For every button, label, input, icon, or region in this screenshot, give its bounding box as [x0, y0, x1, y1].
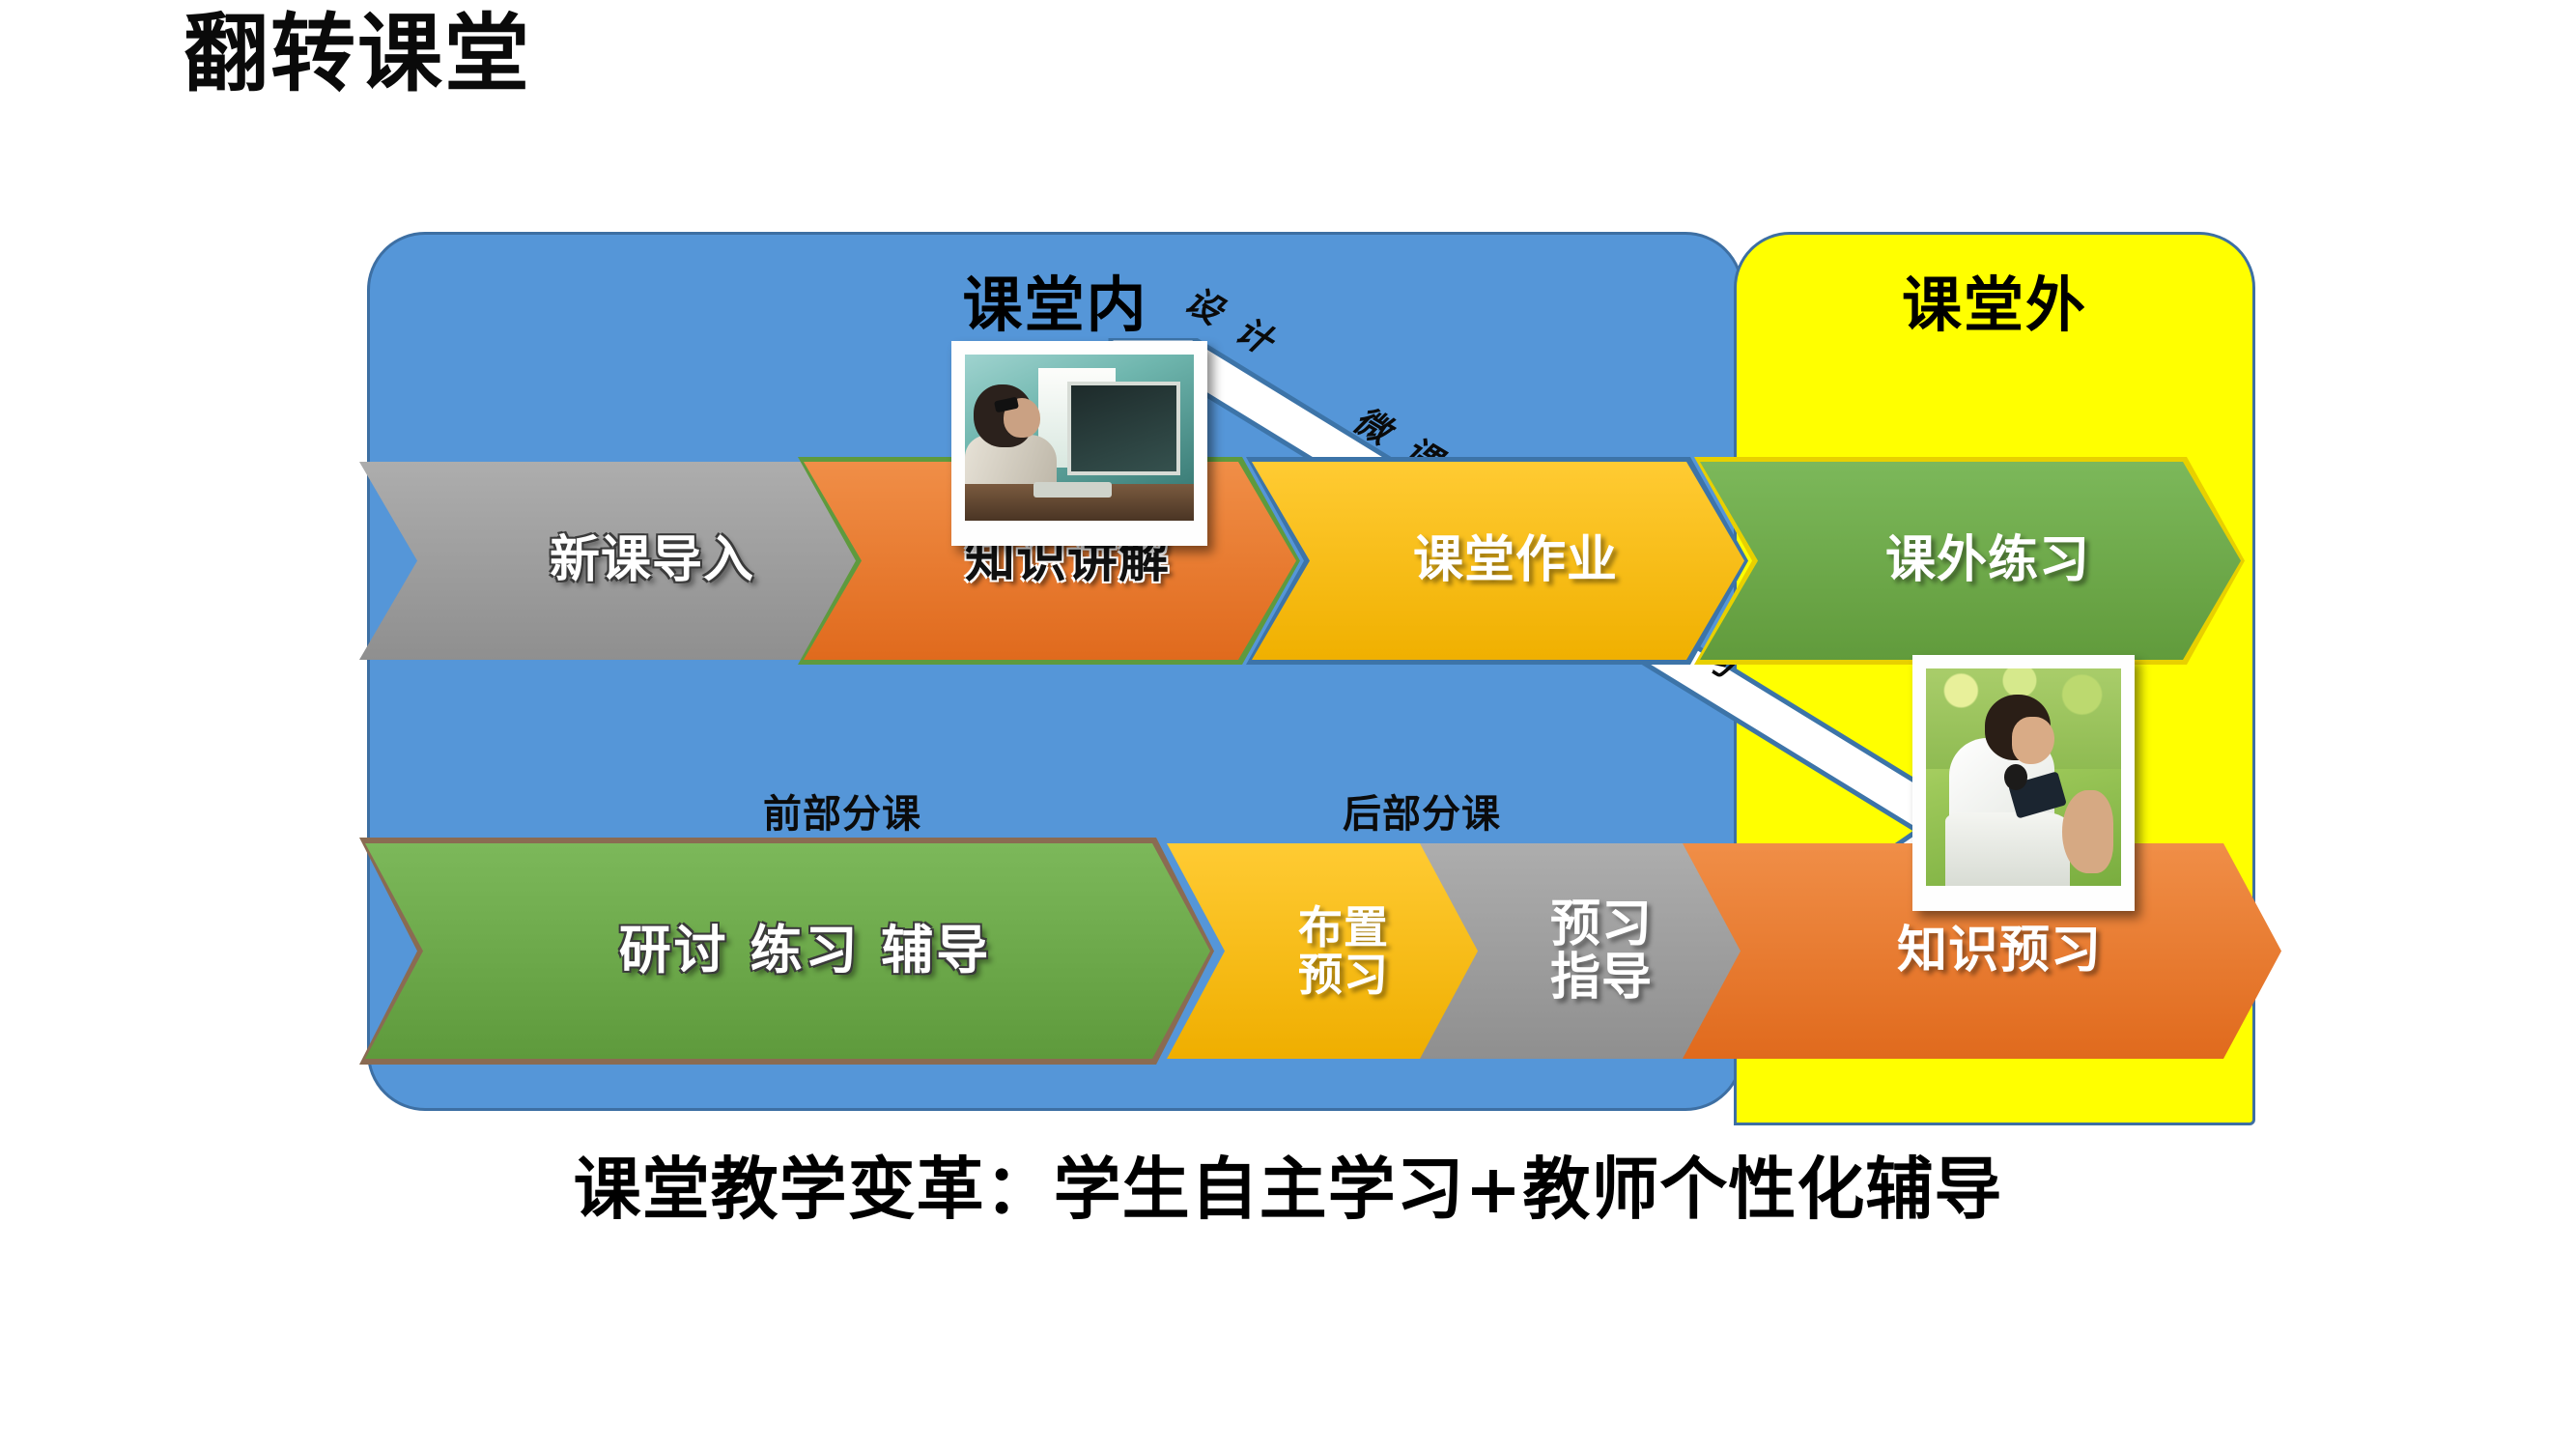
step-after-class-practice-label: 课外练习 [1700, 534, 2241, 587]
panel-out-of-class-label: 课堂外 [1737, 256, 2252, 343]
slide-caption: 课堂教学变革：学生自主学习+教师个性化辅导 [0, 1135, 2576, 1233]
step-class-homework[interactable]: 课堂作业 [1252, 462, 1744, 660]
step-discuss-practice-tutor-label: 研讨 练习 辅导 [365, 924, 1210, 979]
step-discuss-practice-tutor[interactable]: 研讨 练习 辅导 [365, 843, 1210, 1059]
photo-teacher-image [965, 355, 1194, 521]
step-new-lesson-intro-label: 新课导入 [359, 534, 910, 587]
photo-student-image [1926, 668, 2121, 886]
photo-student-studying-tablet [1912, 655, 2135, 911]
label-back-part-of-class: 后部分课 [1343, 782, 1501, 839]
step-knowledge-preview-label: 知识预习 [1683, 924, 2281, 978]
step-after-class-practice[interactable]: 课外练习 [1700, 462, 2241, 660]
label-front-part-of-class: 前部分课 [763, 782, 921, 839]
step-class-homework-label: 课堂作业 [1252, 534, 1744, 587]
page-title: 翻转课堂 [184, 8, 531, 101]
panel-in-class-label: 课堂内 [370, 256, 1741, 343]
photo-teacher-recording-lesson [951, 341, 1207, 546]
